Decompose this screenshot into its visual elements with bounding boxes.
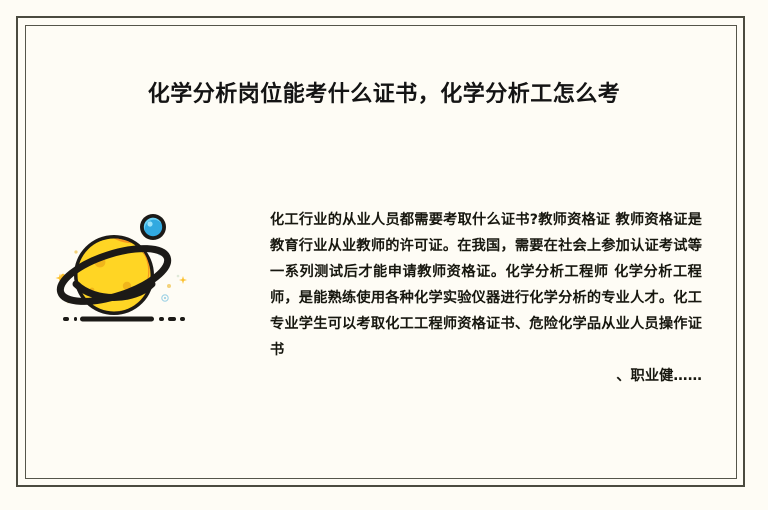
page-title: 化学分析岗位能考什么证书，化学分析工怎么考 (0, 78, 768, 112)
page-root: 化学分析岗位能考什么证书，化学分析工怎么考 (0, 0, 768, 510)
saturn-planet-illustration (52, 198, 220, 346)
article-line-1: 化工行业的从业人员都需要考取什么证书?教师资格证 教 (270, 212, 630, 228)
article-body: 化工行业的从业人员都需要考取什么证书?教师资格证 教师资格证是教育行业从业教师的… (270, 207, 702, 389)
blue-moon-icon (140, 214, 166, 240)
ground-dashed-line (63, 317, 185, 322)
article-line-7: 、职业健…… (270, 363, 702, 389)
